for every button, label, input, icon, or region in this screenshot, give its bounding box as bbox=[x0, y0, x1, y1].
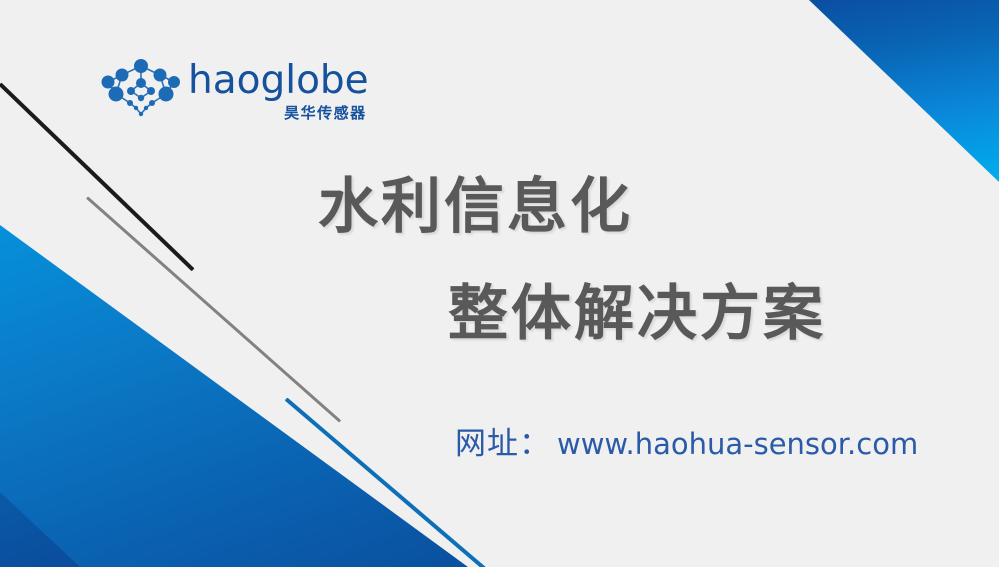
slide-title-line-1: 水利信息化 bbox=[0, 158, 999, 245]
website-label: 网址： bbox=[455, 418, 551, 463]
slide-title-line-2: 整体解决方案 bbox=[0, 265, 999, 352]
website-line: 网址： www.haohua-sensor.com bbox=[455, 418, 918, 463]
logo-text-block: haoglobe 昊华传感器 bbox=[188, 58, 369, 123]
top-right-blue-triangle bbox=[809, 0, 999, 182]
website-url[interactable]: www.haohua-sensor.com bbox=[557, 427, 918, 461]
presentation-slide: haoglobe 昊华传感器 水利信息化 整体解决方案 网址： www.haoh… bbox=[0, 0, 999, 567]
logo-wordmark: haoglobe bbox=[188, 62, 369, 100]
network-nodes-logo-icon bbox=[100, 58, 182, 118]
logo-chinese-name: 昊华传感器 bbox=[284, 102, 367, 123]
company-logo: haoglobe 昊华传感器 bbox=[100, 58, 369, 123]
slide-title-block: 水利信息化 整体解决方案 bbox=[0, 158, 999, 352]
